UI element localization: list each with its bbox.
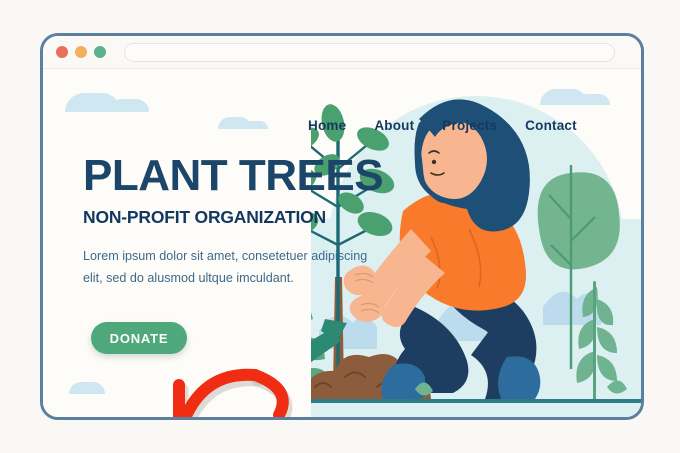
nav-item-home[interactable]: Home [308, 118, 346, 133]
page-viewport: Home About Projects Contact PLANT TREES … [43, 69, 641, 420]
page-subtitle: NON-PROFIT ORGANIZATION [83, 207, 368, 228]
browser-window: Home About Projects Contact PLANT TREES … [40, 33, 644, 420]
hero-paragraph: Lorem ipsum dolor sit amet, consetetuer … [83, 246, 368, 289]
cloud-icon [218, 117, 252, 129]
page-title: PLANT TREES [83, 154, 368, 198]
traffic-light-minimize-icon[interactable] [75, 46, 87, 58]
annotation-arrow-icon [163, 361, 303, 420]
site-navigation: Home About Projects Contact [308, 118, 577, 133]
nav-item-projects[interactable]: Projects [442, 118, 497, 133]
donate-button[interactable]: DONATE [91, 322, 187, 354]
url-input[interactable] [124, 43, 615, 62]
cloud-icon [65, 93, 121, 112]
traffic-light-close-icon[interactable] [56, 46, 68, 58]
cloud-icon [69, 382, 105, 394]
traffic-light-maximize-icon[interactable] [94, 46, 106, 58]
nav-item-contact[interactable]: Contact [525, 118, 577, 133]
browser-chrome [43, 36, 641, 69]
hero-copy: PLANT TREES NON-PROFIT ORGANIZATION Lore… [83, 154, 368, 289]
nav-item-about[interactable]: About [374, 118, 414, 133]
